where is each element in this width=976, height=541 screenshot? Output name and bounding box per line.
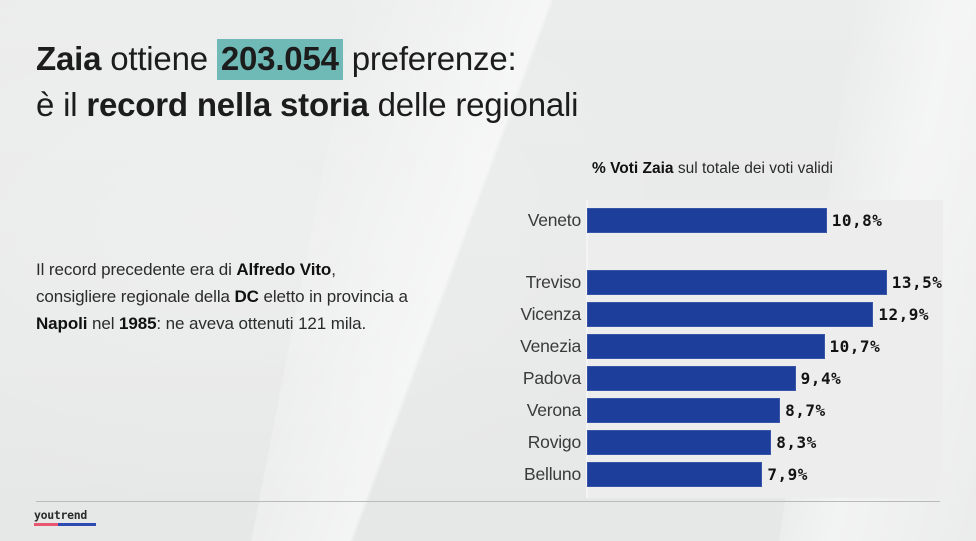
chart-bar [587,334,825,359]
chart-row: Padova9,4% [455,364,955,392]
title-line-2: è il record nella storia delle regionali [36,82,676,128]
title-line-1: Zaia ottiene 203.054 preferenze: [36,39,516,80]
youtrend-logo[interactable]: youtrend [34,509,98,526]
chart-row-label: Verona [455,400,587,421]
chart-row-label: Treviso [455,272,587,293]
title-line2-tail: delle regionali [369,86,579,123]
body-bold-napoli: Napoli [36,314,87,333]
chart-bar [587,398,780,423]
chart-bar [587,462,762,487]
body-bold-alfredo-vito: Alfredo Vito [236,260,331,279]
chart-plot-area: Veneto10,8%Treviso13,5%Vicenza12,9%Venez… [455,200,955,500]
chart-row-label: Venezia [455,336,587,357]
chart-row-label: Vicenza [455,304,587,325]
title-line2-bold: record nella storia [86,86,368,123]
chart-row: Rovigo8,3% [455,428,955,456]
chart-bar-value: 13,5% [892,273,943,292]
page-title: Zaia ottiene 203.054 preferenze: è il re… [36,36,676,128]
chart-bar-value: 10,7% [830,337,881,356]
chart-row: Vicenza12,9% [455,300,955,328]
chart-row-label: Veneto [455,210,587,231]
body-part-4: nel [87,314,119,333]
title-line2-head: è il [36,86,86,123]
chart-bar-wrapper: 10,8% [587,206,955,234]
chart-bar-wrapper: 8,3% [587,428,955,456]
logo-underline-bar [34,523,96,526]
chart-row-label: Padova [455,368,587,389]
chart-bar [587,208,827,233]
chart-bar [587,430,771,455]
body-paragraph: Il record precedente era di Alfredo Vito… [36,256,408,337]
logo-text: youtrend [34,509,98,522]
chart-bar [587,270,887,295]
chart-bar-value: 10,8% [832,211,883,230]
chart-row: Belluno7,9% [455,460,955,488]
body-bold-1985: 1985 [119,314,156,333]
chart-row: Veneto10,8% [455,206,955,234]
chart-row: Venezia10,7% [455,332,955,360]
chart-bar [587,302,873,327]
title-subject: Zaia [36,40,101,77]
chart-bar-wrapper: 8,7% [587,396,955,424]
chart-title-regular: sul totale dei voti validi [674,160,833,177]
chart-bar-value: 12,9% [878,305,929,324]
chart-bar-value: 7,9% [767,465,808,484]
chart-bar-wrapper: 7,9% [587,460,955,488]
chart-row: Verona8,7% [455,396,955,424]
title-verb: ottiene [101,40,217,77]
title-highlight-number: 203.054 [217,39,343,80]
chart-title: % Voti Zaia sul totale dei voti validi [592,160,833,178]
chart-bar [587,366,796,391]
chart-bar-value: 8,3% [776,433,817,452]
chart-row: Treviso13,5% [455,268,955,296]
chart-bar-wrapper: 13,5% [587,268,955,296]
infographic-slide: Zaia ottiene 203.054 preferenze: è il re… [0,0,976,541]
chart-title-bold: % Voti Zaia [592,160,674,177]
chart-bar-wrapper: 9,4% [587,364,955,392]
bar-chart: % Voti Zaia sul totale dei voti validi V… [455,160,955,505]
chart-bar-wrapper: 12,9% [587,300,955,328]
chart-row-label: Rovigo [455,432,587,453]
body-part-3: eletto in provincia a [259,287,408,306]
chart-bar-value: 8,7% [785,401,826,420]
logo-bar-blue [58,523,96,526]
chart-bar-value: 9,4% [801,369,842,388]
title-line1-tail: preferenze: [343,40,517,77]
footer-divider [36,501,940,502]
chart-bar-wrapper: 10,7% [587,332,955,360]
chart-row-label: Belluno [455,464,587,485]
logo-bar-pink [34,523,58,526]
body-bold-dc: DC [235,287,259,306]
body-part-5: : ne aveva ottenuti 121 mila. [156,314,366,333]
body-part-1: Il record precedente era di [36,260,236,279]
